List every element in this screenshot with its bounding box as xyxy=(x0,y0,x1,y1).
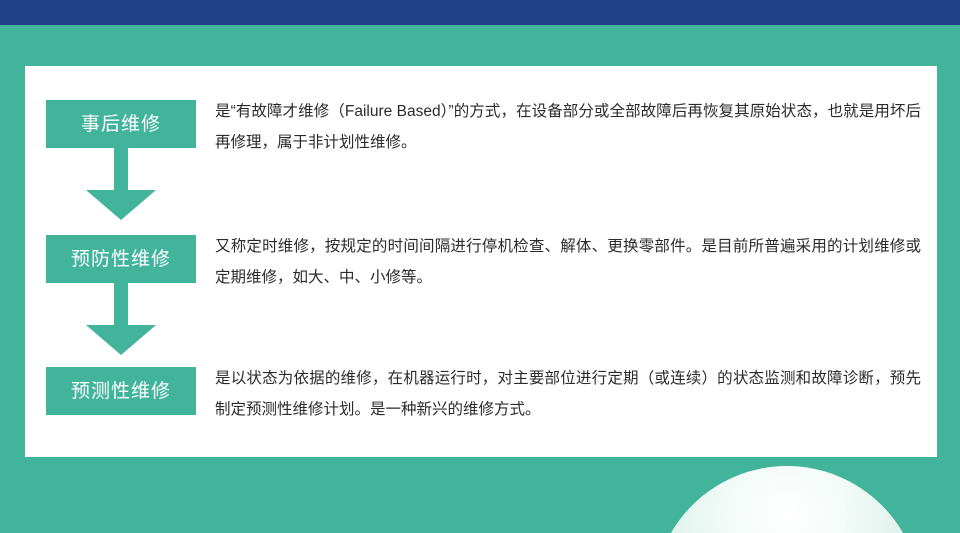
decorative-circle xyxy=(653,466,921,533)
arrow-head-1 xyxy=(86,190,156,220)
arrow-shaft-1 xyxy=(114,148,128,192)
arrow-down-icon-2 xyxy=(25,283,937,355)
step-label-box-2[interactable]: 预防性维修 xyxy=(46,235,196,283)
slide-canvas: 事后维修 是“有故障才维修（Failure Based）”的方式，在设备部分或全… xyxy=(0,0,960,533)
step-label-text-2: 预防性维修 xyxy=(71,250,171,269)
step-label-box-3[interactable]: 预测性维修 xyxy=(46,367,196,415)
arrow-head-2 xyxy=(86,325,156,355)
arrow-down-icon-1 xyxy=(25,148,937,220)
step-label-box-1[interactable]: 事后维修 xyxy=(46,100,196,148)
step-label-text-1: 事后维修 xyxy=(81,115,161,134)
arrow-shaft-2 xyxy=(114,283,128,327)
content-card: 事后维修 是“有故障才维修（Failure Based）”的方式，在设备部分或全… xyxy=(25,66,937,457)
step-description-3: 是以状态为依据的维修，在机器运行时，对主要部位进行定期（或连续）的状态监测和故障… xyxy=(215,363,921,425)
step-label-text-3: 预测性维修 xyxy=(71,382,171,401)
top-accent-bar xyxy=(0,0,960,25)
